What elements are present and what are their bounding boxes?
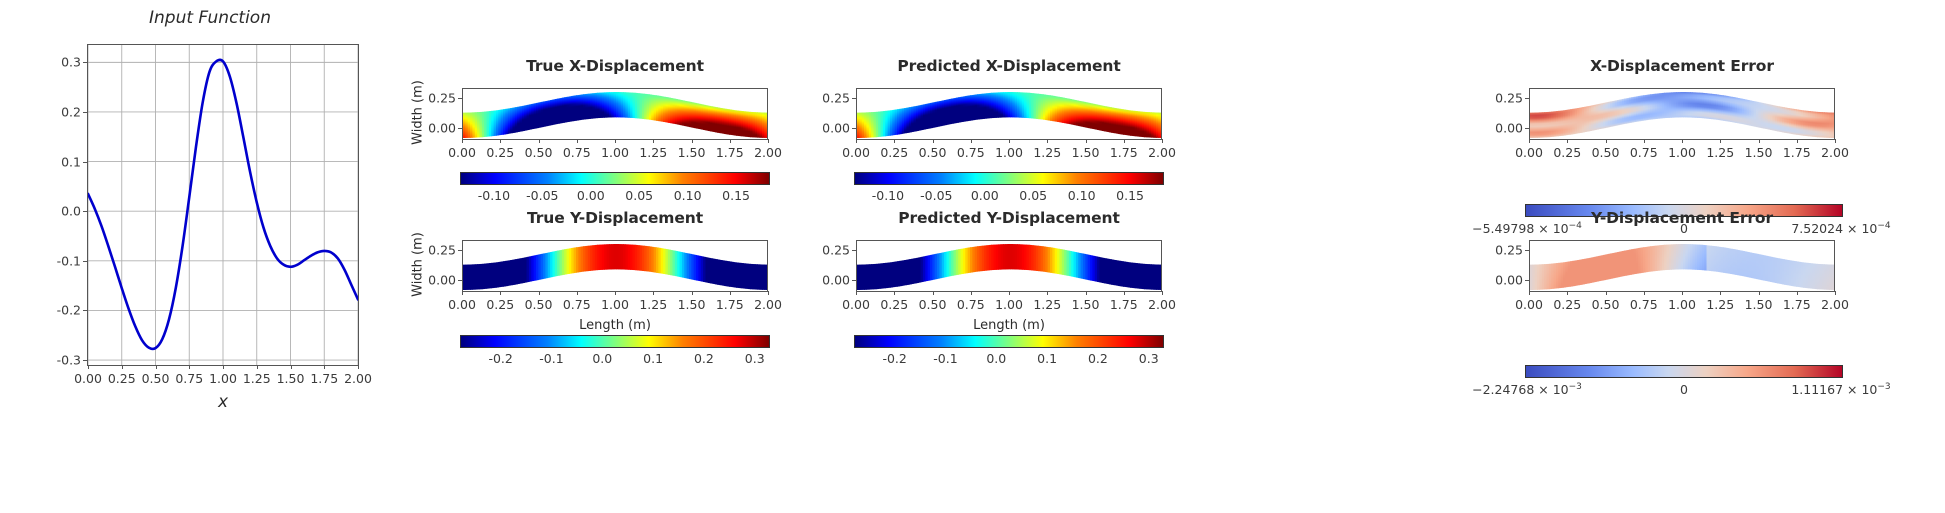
xtick-label: 0.00	[74, 371, 102, 386]
ytick-label: -0.2	[47, 303, 81, 318]
ytick-label: 0.0	[47, 204, 81, 219]
xtick-mark	[1797, 291, 1798, 295]
xtick-label: 0.50	[1592, 145, 1620, 160]
heatmap-field	[463, 89, 768, 140]
xtick-mark	[1759, 291, 1760, 295]
colorbar[interactable]	[854, 172, 1164, 185]
xtick-label: 0.25	[880, 145, 908, 160]
heatmap-axes	[1529, 240, 1835, 292]
ytick-label: 0.00	[1487, 120, 1523, 135]
xtick-label: 1.00	[1668, 297, 1696, 312]
input-function-xlabel: x	[218, 392, 228, 412]
ytick-mark	[83, 360, 87, 361]
colorbar-tick-label: -0.2	[882, 351, 906, 366]
xtick-label: 0.00	[448, 297, 476, 312]
xtick-label: 0.75	[175, 371, 203, 386]
colorbar[interactable]	[854, 335, 1164, 348]
xtick-mark	[933, 291, 934, 295]
xtick-mark	[156, 365, 157, 369]
xtick-label: 1.75	[716, 297, 744, 312]
heatmap-ylabel: Width (m)	[411, 61, 426, 165]
xtick-mark	[1682, 291, 1683, 295]
ytick-label: 0.25	[814, 242, 850, 257]
heatmap-field	[1530, 89, 1835, 140]
ytick-label: 0.25	[814, 90, 850, 105]
xtick-mark	[1759, 139, 1760, 143]
xtick-mark	[894, 291, 895, 295]
colorbar-tick-label: 0.0	[986, 351, 1006, 366]
xtick-mark	[653, 139, 654, 143]
ytick-mark	[852, 280, 856, 281]
colorbar-tick-label: 0.05	[625, 188, 653, 203]
xtick-label: 0.75	[957, 145, 985, 160]
ytick-mark	[458, 250, 462, 251]
xtick-mark	[1009, 291, 1010, 295]
xtick-mark	[1567, 291, 1568, 295]
xtick-mark	[1606, 139, 1607, 143]
xtick-mark	[1009, 139, 1010, 143]
xtick-mark	[730, 291, 731, 295]
xtick-label: 0.50	[525, 145, 553, 160]
colorbar-tick-label: 0.2	[694, 351, 714, 366]
heatmap-xlabel: Length (m)	[579, 318, 651, 333]
xtick-mark	[768, 139, 769, 143]
xtick-label: 0.25	[108, 371, 136, 386]
xtick-mark	[500, 139, 501, 143]
xtick-mark	[856, 291, 857, 295]
xtick-label: 1.25	[1033, 297, 1061, 312]
xtick-mark	[971, 291, 972, 295]
heatmap-field	[857, 241, 1162, 292]
colorbar-tick-label: -0.1	[539, 351, 563, 366]
xtick-mark	[1567, 139, 1568, 143]
xtick-label: 1.00	[1668, 145, 1696, 160]
colorbar-tick-label: -0.1	[933, 351, 957, 366]
xtick-label: 1.00	[601, 145, 629, 160]
ytick-mark	[83, 310, 87, 311]
xtick-label: 0.50	[142, 371, 170, 386]
xtick-mark	[615, 291, 616, 295]
input-function-title: Input Function	[149, 8, 271, 28]
ytick-label: 0.25	[1487, 90, 1523, 105]
ytick-mark	[852, 250, 856, 251]
xtick-mark	[768, 291, 769, 295]
xtick-mark	[500, 291, 501, 295]
xtick-label: 1.75	[1110, 145, 1138, 160]
ytick-mark	[83, 112, 87, 113]
ytick-label: 0.25	[1487, 242, 1523, 257]
ytick-label: 0.00	[1487, 272, 1523, 287]
xtick-mark	[933, 139, 934, 143]
ytick-mark	[1525, 98, 1529, 99]
xtick-label: 0.50	[525, 297, 553, 312]
ytick-label: 0.1	[47, 154, 81, 169]
colorbar-tick-label: 0	[1680, 382, 1688, 397]
colorbar-tick-label: 0.3	[1139, 351, 1159, 366]
xtick-mark	[730, 139, 731, 143]
xtick-mark	[653, 291, 654, 295]
panel-title: True Y-Displacement	[527, 209, 703, 227]
colorbar-tick-label: -0.05	[526, 188, 558, 203]
xtick-label: 1.00	[995, 297, 1023, 312]
ytick-label: 0.2	[47, 104, 81, 119]
xtick-mark	[1047, 291, 1048, 295]
ytick-mark	[83, 211, 87, 212]
xtick-label: 1.25	[639, 297, 667, 312]
heatmap-xlabel: Length (m)	[973, 318, 1045, 333]
colorbar-tick-label: 0.2	[1088, 351, 1108, 366]
xtick-label: 0.00	[1515, 297, 1543, 312]
xtick-label: 1.25	[1706, 297, 1734, 312]
heatmap-field	[463, 241, 768, 292]
ytick-label: 0.00	[814, 272, 850, 287]
heatmap-axes	[462, 240, 768, 292]
xtick-mark	[1644, 139, 1645, 143]
xtick-label: 1.00	[601, 297, 629, 312]
colorbar-tick-label: -0.10	[478, 188, 510, 203]
xtick-label: 0.75	[1630, 297, 1658, 312]
xtick-mark	[1124, 139, 1125, 143]
xtick-mark	[1086, 291, 1087, 295]
colorbar-tick-label: 0.05	[1019, 188, 1047, 203]
ytick-mark	[83, 261, 87, 262]
xtick-label: 2.00	[1148, 145, 1176, 160]
ytick-mark	[83, 62, 87, 63]
colorbar-tick-label: 0.15	[1116, 188, 1144, 203]
xtick-mark	[1797, 139, 1798, 143]
xtick-label: 1.75	[1783, 145, 1811, 160]
xtick-label: 1.50	[1072, 297, 1100, 312]
xtick-label: 0.25	[880, 297, 908, 312]
xtick-label: 0.50	[1592, 297, 1620, 312]
input-function-panel: Input Function Displacement x 0.000.250.…	[0, 0, 420, 513]
xtick-mark	[1086, 139, 1087, 143]
panel-title: Predicted Y-Displacement	[898, 209, 1120, 227]
ytick-label: 0.3	[47, 55, 81, 70]
xtick-mark	[88, 365, 89, 369]
xtick-label: 2.00	[1821, 297, 1849, 312]
heatmap-ylabel: Width (m)	[411, 213, 426, 317]
ytick-label: 0.00	[814, 120, 850, 135]
ytick-label: -0.1	[47, 253, 81, 268]
colorbar-tick-label: 0.1	[1037, 351, 1057, 366]
colorbar-tick-label: −5.49798 × 10−4	[1472, 221, 1582, 236]
xtick-mark	[1162, 139, 1163, 143]
colorbar-tick-label: -0.10	[872, 188, 904, 203]
xtick-mark	[462, 139, 463, 143]
heatmap-axes	[462, 88, 768, 140]
xtick-label: 1.50	[1072, 145, 1100, 160]
colorbar-tick-label: 1.11167 × 10−3	[1791, 382, 1890, 397]
xtick-label: 0.00	[842, 145, 870, 160]
xtick-mark	[577, 139, 578, 143]
xtick-label: 2.00	[1148, 297, 1176, 312]
xtick-mark	[1720, 291, 1721, 295]
xtick-label: 0.75	[563, 297, 591, 312]
xtick-mark	[324, 365, 325, 369]
colorbar[interactable]	[460, 172, 770, 185]
panel-title: True X-Displacement	[526, 57, 704, 75]
xtick-mark	[291, 365, 292, 369]
xtick-mark	[856, 139, 857, 143]
xtick-label: 1.75	[716, 145, 744, 160]
xtick-mark	[1529, 291, 1530, 295]
xtick-label: 0.00	[842, 297, 870, 312]
xtick-mark	[1162, 291, 1163, 295]
colorbar-tick-label: −2.24768 × 10−3	[1472, 382, 1582, 397]
colorbar-tick-label: 0.10	[1068, 188, 1096, 203]
colorbar-tick-label: 0.15	[722, 188, 750, 203]
xtick-label: 1.50	[277, 371, 305, 386]
colorbar-tick-label: 0.0	[592, 351, 612, 366]
xtick-label: 1.75	[1110, 297, 1138, 312]
xtick-label: 0.75	[563, 145, 591, 160]
ytick-mark	[1525, 250, 1529, 251]
xtick-label: 0.25	[1553, 145, 1581, 160]
colorbar-tick-label: -0.2	[488, 351, 512, 366]
ytick-mark	[852, 128, 856, 129]
colorbar[interactable]	[460, 335, 770, 348]
xtick-mark	[577, 291, 578, 295]
xtick-label: 0.25	[486, 297, 514, 312]
colorbar-tick-label: 0.1	[643, 351, 663, 366]
xtick-mark	[692, 139, 693, 143]
gridlines	[88, 45, 358, 365]
colorbar-tick-label: 0.10	[674, 188, 702, 203]
xtick-label: 1.75	[310, 371, 338, 386]
colorbar-tick-label: -0.05	[920, 188, 952, 203]
xtick-label: 1.50	[1745, 145, 1773, 160]
xtick-mark	[1644, 291, 1645, 295]
xtick-label: 1.00	[209, 371, 237, 386]
colorbar-tick-label: 0.00	[577, 188, 605, 203]
xtick-label: 1.50	[678, 145, 706, 160]
xtick-mark	[1606, 291, 1607, 295]
xtick-label: 1.50	[678, 297, 706, 312]
xtick-mark	[1047, 139, 1048, 143]
colorbar-tick-label: 0.00	[971, 188, 999, 203]
xtick-label: 0.00	[1515, 145, 1543, 160]
xtick-label: 2.00	[1821, 145, 1849, 160]
xtick-label: 0.00	[448, 145, 476, 160]
ytick-mark	[1525, 280, 1529, 281]
panel-title: X-Displacement Error	[1590, 57, 1774, 75]
xtick-label: 0.75	[957, 297, 985, 312]
ytick-mark	[1525, 128, 1529, 129]
xtick-mark	[462, 291, 463, 295]
xtick-label: 1.00	[995, 145, 1023, 160]
xtick-label: 0.50	[919, 145, 947, 160]
xtick-mark	[122, 365, 123, 369]
ytick-mark	[852, 98, 856, 99]
xtick-label: 1.25	[243, 371, 271, 386]
xtick-mark	[358, 365, 359, 369]
colorbar-tick-label: 7.52024 × 10−4	[1791, 221, 1890, 236]
xtick-mark	[894, 139, 895, 143]
heatmap-axes	[856, 88, 1162, 140]
xtick-label: 0.25	[486, 145, 514, 160]
xtick-mark	[539, 291, 540, 295]
input-function-axes	[87, 44, 359, 366]
xtick-label: 1.25	[1706, 145, 1734, 160]
xtick-label: 2.00	[344, 371, 372, 386]
xtick-label: 0.75	[1630, 145, 1658, 160]
xtick-label: 1.75	[1783, 297, 1811, 312]
xtick-label: 2.00	[754, 297, 782, 312]
panel-title: Y-Displacement Error	[1591, 209, 1773, 227]
xtick-mark	[223, 365, 224, 369]
ytick-label: -0.3	[47, 353, 81, 368]
figure-canvas: Input Function Displacement x 0.000.250.…	[0, 0, 1945, 513]
colorbar[interactable]	[1525, 365, 1843, 378]
xtick-label: 1.25	[1033, 145, 1061, 160]
xtick-label: 0.50	[919, 297, 947, 312]
heatmap-field	[1530, 241, 1835, 292]
xtick-mark	[692, 291, 693, 295]
xtick-mark	[189, 365, 190, 369]
panel-title: Predicted X-Displacement	[897, 57, 1120, 75]
ytick-mark	[458, 128, 462, 129]
xtick-label: 2.00	[754, 145, 782, 160]
ytick-mark	[458, 98, 462, 99]
xtick-mark	[1124, 291, 1125, 295]
xtick-mark	[615, 139, 616, 143]
xtick-label: 1.25	[639, 145, 667, 160]
xtick-mark	[539, 139, 540, 143]
colorbar-tick-label: 0.3	[745, 351, 765, 366]
xtick-mark	[257, 365, 258, 369]
xtick-mark	[1529, 139, 1530, 143]
ytick-mark	[458, 280, 462, 281]
input-function-plot-area	[88, 45, 358, 365]
xtick-mark	[1720, 139, 1721, 143]
xtick-mark	[971, 139, 972, 143]
ytick-mark	[83, 162, 87, 163]
xtick-mark	[1835, 291, 1836, 295]
heatmap-field	[857, 89, 1162, 140]
heatmap-axes	[856, 240, 1162, 292]
xtick-label: 0.25	[1553, 297, 1581, 312]
xtick-mark	[1835, 139, 1836, 143]
heatmap-axes	[1529, 88, 1835, 140]
xtick-label: 1.50	[1745, 297, 1773, 312]
xtick-mark	[1682, 139, 1683, 143]
